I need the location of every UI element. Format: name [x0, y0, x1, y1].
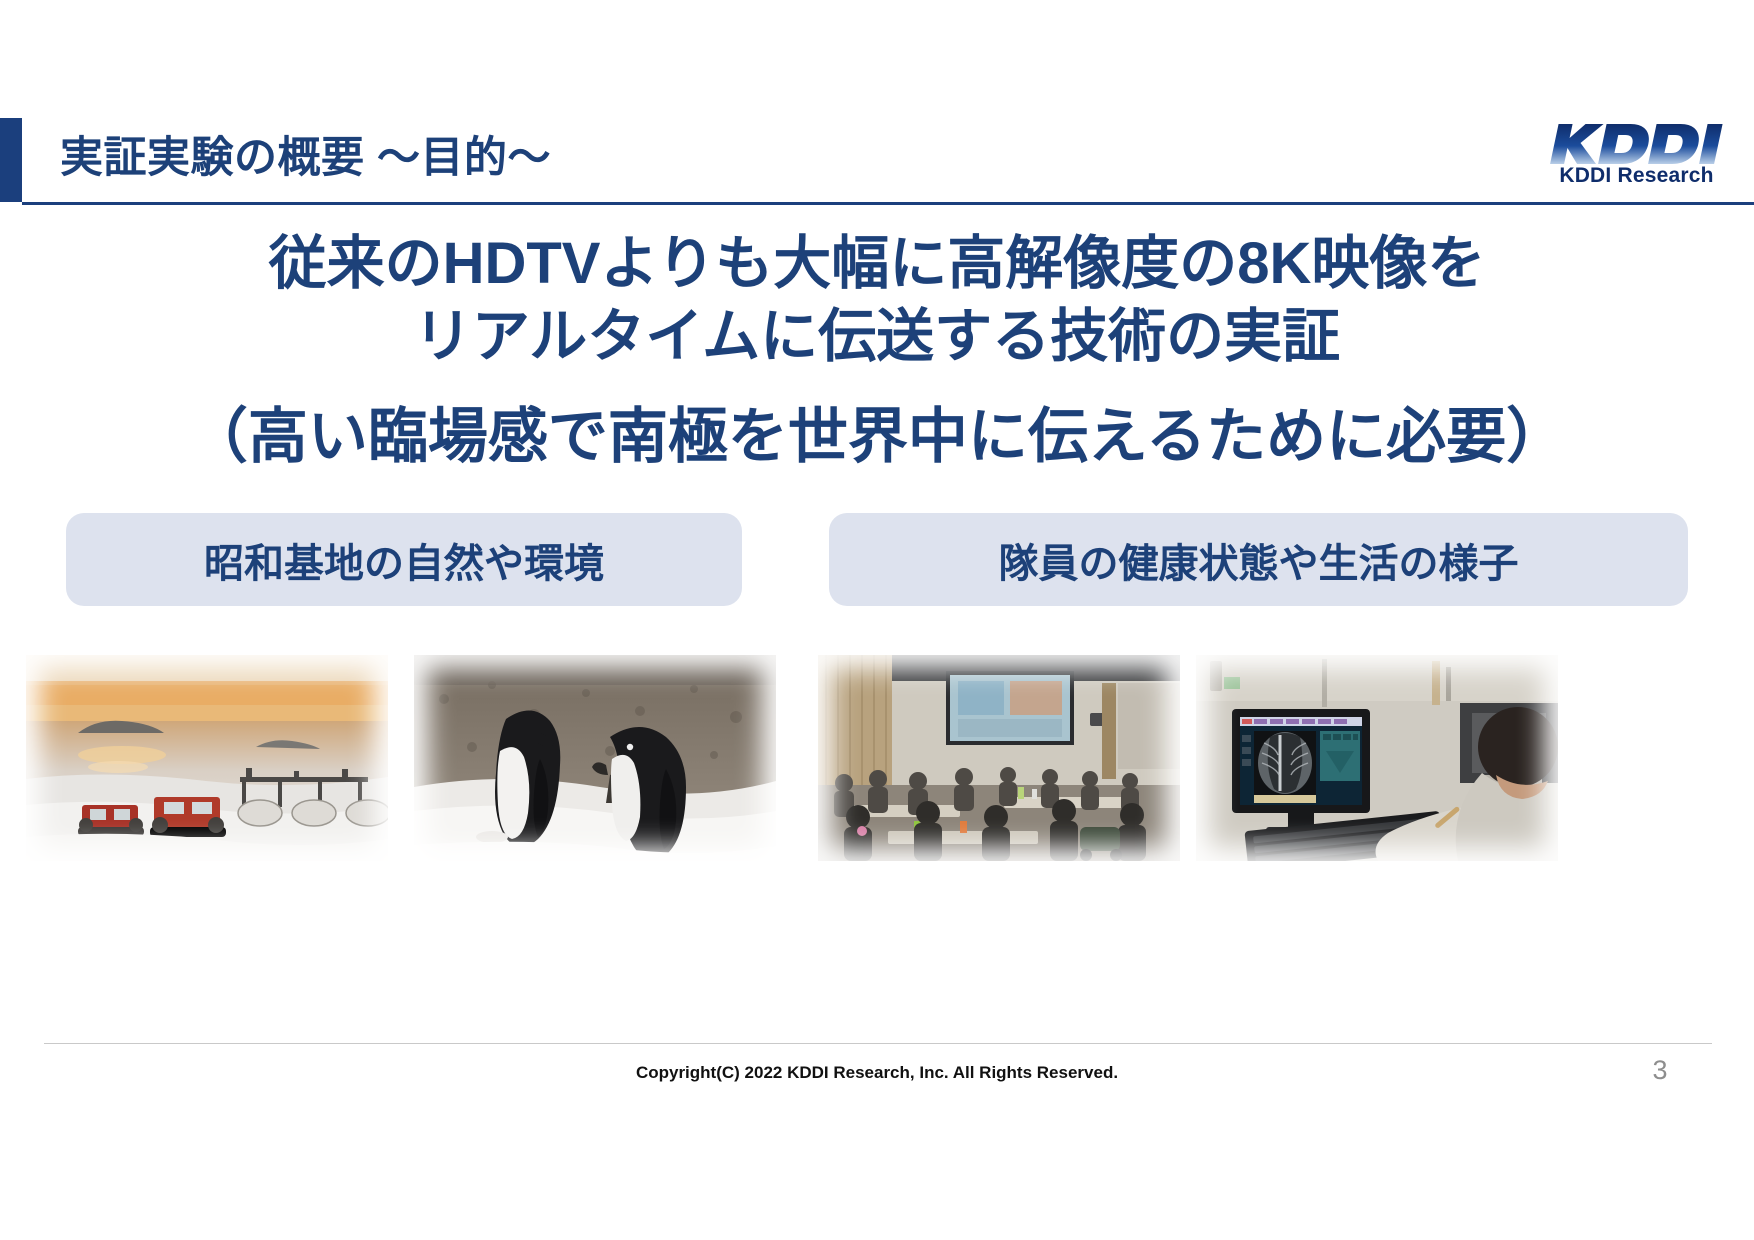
photo-remote-viewing-hall: [818, 655, 1180, 861]
footer-divider: [44, 1043, 1712, 1044]
photo-showa-base: [26, 655, 388, 861]
photo-showa-base-art: [26, 655, 388, 861]
headline-line-3: （高い臨場感で南極を世界中に伝えるために必要）: [0, 399, 1754, 474]
page-title: 実証実験の概要 ～目的～: [60, 126, 551, 191]
photo-chest-xray-diagnosis-art: [1196, 655, 1558, 861]
category-label-nature: 昭和基地の自然や環境: [204, 531, 604, 589]
logo-caption: KDDI Research: [1529, 164, 1744, 188]
photo-remote-viewing-hall-art: [818, 655, 1180, 861]
kddi-wordmark-icon: [1537, 122, 1737, 166]
category-pill-crew: 隊員の健康状態や生活の様子: [829, 513, 1688, 606]
headline-line-1: 従来のHDTVよりも大幅に高解像度の8K映像を: [0, 228, 1754, 301]
category-pill-nature: 昭和基地の自然や環境: [66, 513, 742, 606]
photo-adelie-penguins: [414, 655, 776, 861]
header-divider: [22, 202, 1754, 205]
kddi-research-logo: KDDI Research: [1529, 122, 1744, 196]
photo-adelie-penguins-art: [414, 655, 776, 861]
header-accent-bar: [0, 118, 22, 202]
photo-chest-xray-diagnosis: [1196, 655, 1558, 861]
copyright-text: Copyright(C) 2022 KDDI Research, Inc. Al…: [0, 1063, 1754, 1083]
headline-line-2: リアルタイムに伝送する技術の実証: [0, 301, 1754, 374]
slide-root: 実証実験の概要 ～目的～: [0, 0, 1754, 1240]
page-number: 3: [1630, 1055, 1690, 1086]
slide-header: 実証実験の概要 ～目的～: [0, 118, 1754, 202]
category-label-crew: 隊員の健康状態や生活の様子: [999, 531, 1519, 589]
headline-block: 従来のHDTVよりも大幅に高解像度の8K映像を リアルタイムに伝送する技術の実証…: [0, 228, 1754, 474]
